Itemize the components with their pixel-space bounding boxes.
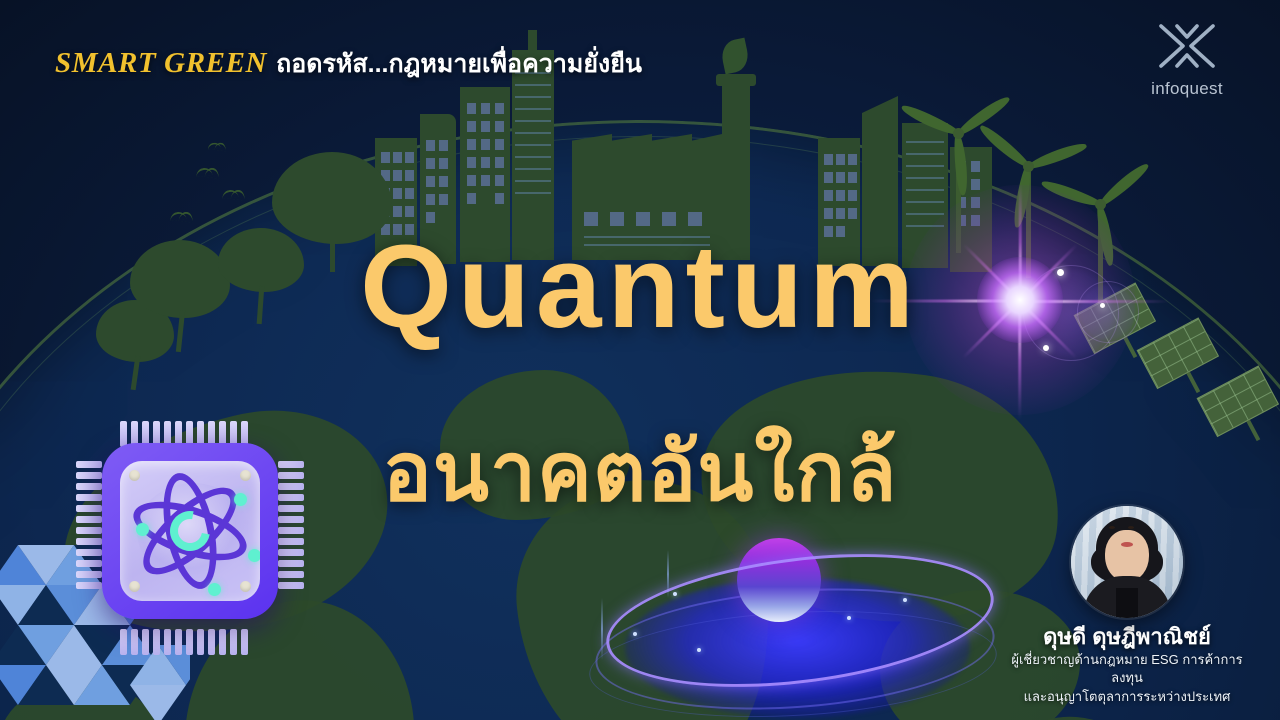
- speaker-role-line-2: และอนุญาโตตุลาการระหว่างประเทศ: [1002, 688, 1252, 706]
- leaf-icon: [719, 38, 751, 75]
- page-subtitle: อนาคตอันใกล้: [0, 428, 1280, 518]
- speaker-card: ดุษดี ดุษฎีพาณิชย์ ผู้เชี่ยวชาญด้านกฎหมา…: [1002, 506, 1252, 706]
- slide-canvas: SMART GREEN ถอดรหัส...กฎหมายเพื่อความยั่…: [0, 0, 1280, 720]
- infoquest-x-logo-icon: [1157, 22, 1217, 70]
- chip-pins-bottom: [120, 629, 248, 655]
- avatar: [1071, 506, 1183, 618]
- page-title: Quantum: [0, 228, 1280, 346]
- header-banner: SMART GREEN ถอดรหัส...กฎหมายเพื่อความยั่…: [55, 44, 642, 84]
- quantum-orb-podium: [585, 520, 1005, 720]
- infoquest-logo[interactable]: infoquest: [1132, 22, 1242, 99]
- infoquest-wordmark: infoquest: [1132, 79, 1242, 99]
- tagline-label: ถอดรหัส...กฎหมายเพื่อความยั่งยืน: [276, 44, 642, 84]
- brand-label: SMART GREEN: [55, 47, 267, 80]
- speaker-name: ดุษดี ดุษฎีพาณิชย์: [1002, 624, 1252, 649]
- speaker-role-line-1: ผู้เชี่ยวชาญด้านกฎหมาย ESG การค้าการลงทุ…: [1002, 651, 1252, 686]
